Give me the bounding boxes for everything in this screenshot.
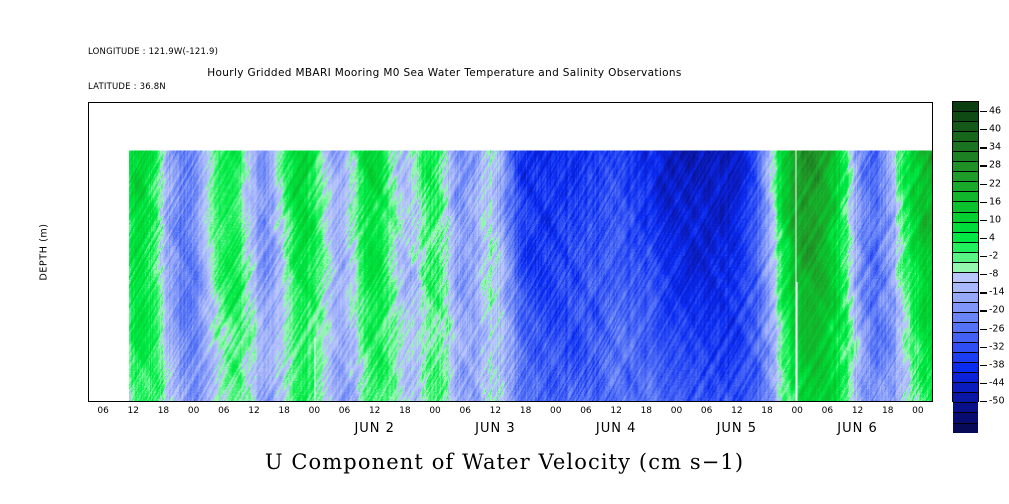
x-axis-tick-major [798,401,799,402]
x-axis-day-label: JUN 5 [717,421,757,436]
x-axis-tick-minor [119,102,120,103]
x-axis-tick-minor [180,401,181,402]
colorbar-band [953,111,978,121]
x-axis-tick-minor [542,401,543,402]
colorbar-band [953,222,978,232]
x-axis-tick-minor [386,102,387,103]
x-axis-tick-minor [823,401,824,402]
x-axis-tick-minor [532,102,533,103]
x-axis-tick-minor [823,102,824,103]
colorbar-band [953,232,978,242]
x-axis-tick-minor [270,102,271,103]
x-axis-tick-minor [537,401,538,402]
colorbar: 464034282216104-2-8-14-20-26-32-38-44-50 [952,101,979,402]
x-axis-tick-minor [924,401,925,402]
colorbar-band [953,121,978,131]
x-axis-hour-label: 18 [641,406,652,416]
x-axis-tick-major [406,401,407,402]
x-axis-tick-minor [361,102,362,103]
x-axis-tick-minor [506,401,507,402]
x-axis-tick-minor [512,102,513,103]
x-axis-tick-major [647,102,648,103]
x-axis-tick-minor [340,102,341,103]
colorbar-band [953,102,978,111]
colorbar-band [953,362,978,372]
x-axis-tick-minor [763,102,764,103]
x-axis-tick-minor [894,401,895,402]
x-axis-tick-minor [607,401,608,402]
x-axis-hour-label: 18 [278,406,289,416]
x-axis-tick-minor [577,102,578,103]
x-axis-tick-minor [582,102,583,103]
x-axis-tick-minor [813,102,814,103]
x-axis-tick-major [134,102,135,103]
x-axis-tick-minor [481,102,482,103]
x-axis-tick-major [255,401,256,402]
x-axis-tick-minor [582,401,583,402]
x-axis-tick-major [376,102,377,103]
x-axis-tick-minor [672,401,673,402]
x-axis-hour-label: 12 [490,406,501,416]
x-axis-tick-minor [325,401,326,402]
colorbar-band [953,423,978,433]
x-axis-tick-minor [612,102,613,103]
x-axis-tick-minor [486,401,487,402]
x-axis-tick-minor [149,401,150,402]
x-axis-tick-minor [220,102,221,103]
x-axis-hour-label: 12 [128,406,139,416]
x-axis-hour-label: 18 [520,406,531,416]
colorbar-tick-label: -14 [989,287,1005,298]
x-axis-hour-label: 12 [731,406,742,416]
x-axis-day-label: JUN 4 [596,421,636,436]
x-axis-tick-minor [698,401,699,402]
y-axis-tick-minor [88,253,89,254]
x-axis-tick-minor [688,102,689,103]
x-axis-tick-minor [909,401,910,402]
colorbar-band [953,141,978,151]
x-axis-tick-minor [190,401,191,402]
x-axis-tick-minor [205,401,206,402]
x-axis-tick-minor [149,102,150,103]
x-axis-tick-minor [713,401,714,402]
colorbar-tick-label: -44 [989,377,1005,388]
x-axis-tick-minor [637,102,638,103]
x-axis-tick-minor [154,401,155,402]
x-axis-hour-label: 12 [369,406,380,416]
x-axis-tick-minor [250,401,251,402]
y-axis-title: DEPTH (m) [39,223,50,280]
x-axis-tick-minor [245,102,246,103]
x-axis-tick-minor [517,102,518,103]
colorbar-band [953,161,978,171]
x-axis-tick-minor [567,401,568,402]
x-axis-tick-minor [335,401,336,402]
x-axis-tick-minor [175,102,176,103]
y-axis-tick-minor [88,373,89,374]
x-axis-tick-major [285,102,286,103]
x-axis-tick-minor [698,102,699,103]
x-axis-tick-minor [869,102,870,103]
x-axis-tick-minor [899,401,900,402]
x-axis-tick-minor [411,102,412,103]
x-axis-tick-minor [114,401,115,402]
x-axis-tick-major [225,102,226,103]
y-axis-tick-major [88,343,89,344]
x-axis-tick-minor [270,401,271,402]
colorbar-band [953,191,978,201]
colorbar-tick [980,383,987,384]
x-axis-tick-minor [547,401,548,402]
x-axis-tick-minor [753,102,754,103]
y-axis-tick-major [88,283,89,284]
x-axis-tick-minor [275,401,276,402]
x-axis-hour-label: 06 [339,406,350,416]
x-axis-tick-major [708,401,709,402]
x-axis-tick-minor [260,102,261,103]
x-axis-tick-major [738,102,739,103]
x-axis-tick-major [617,401,618,402]
x-axis-tick-minor [652,401,653,402]
colorbar-tick [980,329,987,330]
x-axis-tick-minor [778,102,779,103]
x-axis-tick-major [496,102,497,103]
x-axis-tick-minor [899,102,900,103]
x-axis-tick-minor [642,401,643,402]
x-axis-tick-minor [351,102,352,103]
x-axis-tick-major [104,401,105,402]
x-axis-tick-major [315,102,316,103]
x-axis-tick-minor [476,102,477,103]
x-axis-tick-minor [421,401,422,402]
x-axis-tick-major [828,401,829,402]
x-axis-tick-major [315,401,316,402]
plot-caption-text: U Component of Water Velocity (cm s−1) [265,450,744,474]
colorbar-tick-label: 46 [989,106,1001,117]
colorbar-band [953,242,978,252]
x-axis-tick-minor [99,401,100,402]
x-axis-tick-minor [431,102,432,103]
x-axis-tick-minor [159,102,160,103]
x-axis-tick-minor [688,401,689,402]
x-axis-tick-minor [295,102,296,103]
plot-caption: U Component of Water Velocity (cm s−1) [0,450,1009,474]
x-axis-tick-minor [914,401,915,402]
x-axis-tick-minor [215,102,216,103]
x-axis-tick-minor [572,401,573,402]
x-axis-tick-minor [144,401,145,402]
x-axis-tick-minor [627,102,628,103]
x-axis-tick-minor [522,102,523,103]
x-axis-tick-minor [391,102,392,103]
x-axis-tick-minor [552,102,553,103]
x-axis-tick-minor [476,401,477,402]
colorbar-tick [980,202,987,203]
x-axis-tick-minor [200,401,201,402]
x-axis-tick-minor [190,102,191,103]
x-axis-tick-minor [864,102,865,103]
x-axis-tick-minor [426,102,427,103]
x-axis-tick-minor [169,401,170,402]
x-axis-tick-major [919,401,920,402]
x-axis-hour-label: 00 [188,406,199,416]
colorbar-tick [980,165,987,166]
x-axis-tick-minor [129,401,130,402]
x-axis-tick-minor [864,401,865,402]
x-axis-tick-minor [843,102,844,103]
x-axis-tick-minor [335,102,336,103]
x-axis-tick-minor [99,102,100,103]
x-axis-tick-minor [340,401,341,402]
colorbar-tick-label: 28 [989,160,1001,171]
x-axis-tick-major [557,102,558,103]
x-axis-tick-minor [672,102,673,103]
x-axis-tick-minor [748,401,749,402]
x-axis-tick-major [587,401,588,402]
x-axis-tick-major [647,401,648,402]
x-axis-tick-minor [723,102,724,103]
x-axis-tick-minor [848,102,849,103]
x-axis-tick-minor [838,401,839,402]
x-axis-tick-minor [793,102,794,103]
x-axis-tick-minor [461,401,462,402]
x-axis-tick-minor [260,401,261,402]
x-axis-tick-minor [929,102,930,103]
x-axis-day-label: JUN 6 [837,421,877,436]
x-axis-tick-minor [884,102,885,103]
x-axis-tick-minor [693,401,694,402]
x-axis-hour-label: 06 [97,406,108,416]
x-axis-tick-minor [356,401,357,402]
x-axis-tick-major [164,102,165,103]
colorbar-tick [980,111,987,112]
x-axis-tick-major [798,102,799,103]
x-axis-tick-major [677,401,678,402]
x-axis-tick-minor [491,401,492,402]
x-axis-tick-major [466,401,467,402]
x-axis-tick-major [738,401,739,402]
x-axis-tick-minor [265,401,266,402]
colorbar-tick [980,274,987,275]
x-axis-tick-minor [265,102,266,103]
x-axis-tick-minor [305,401,306,402]
colorbar-tick [980,220,987,221]
x-axis-tick-minor [351,401,352,402]
x-axis-tick-minor [703,102,704,103]
x-axis-tick-minor [657,102,658,103]
x-axis-tick-minor [517,401,518,402]
x-axis-tick-minor [215,401,216,402]
x-axis-tick-minor [486,102,487,103]
x-axis-tick-minor [114,102,115,103]
latitude-line: LATITUDE : 36.8N [88,82,218,94]
x-axis-tick-minor [295,401,296,402]
x-axis-tick-minor [753,401,754,402]
x-axis-tick-minor [205,102,206,103]
x-axis-tick-minor [904,401,905,402]
x-axis-tick-minor [532,401,533,402]
colorbar-band [953,402,978,412]
colorbar-tick-label: -8 [989,269,998,280]
colorbar-band [953,302,978,312]
x-axis-tick-minor [592,401,593,402]
x-axis-tick-minor [512,401,513,402]
x-axis-tick-minor [567,102,568,103]
x-axis-tick-minor [723,401,724,402]
x-axis-tick-minor [366,102,367,103]
x-axis-tick-minor [788,401,789,402]
x-axis-tick-minor [622,102,623,103]
x-axis-tick-minor [139,401,140,402]
x-axis-tick-minor [280,102,281,103]
x-axis-tick-minor [109,102,110,103]
y-axis-tick-minor [88,313,89,314]
x-axis-tick-minor [280,401,281,402]
x-axis-tick-minor [879,102,880,103]
colorbar-tick-label: -50 [989,396,1005,407]
colorbar-band [953,322,978,332]
x-axis-tick-minor [89,401,90,402]
x-axis-day-label: JUN 2 [354,421,394,436]
x-axis-tick-minor [713,102,714,103]
x-axis-tick-minor [718,102,719,103]
x-axis-tick-minor [703,401,704,402]
x-axis-tick-minor [129,102,130,103]
x-axis-tick-minor [396,401,397,402]
x-axis-tick-major [436,102,437,103]
colorbar-tick [980,292,987,293]
x-axis-hour-label: 12 [248,406,259,416]
x-axis-tick-minor [310,102,311,103]
x-axis-tick-minor [391,401,392,402]
colorbar-tick-label: -2 [989,251,998,262]
x-axis-tick-minor [124,401,125,402]
x-axis-tick-major [889,401,890,402]
x-axis-tick-minor [109,401,110,402]
x-axis-tick-minor [154,102,155,103]
x-axis-tick-minor [366,401,367,402]
colorbar-band [953,382,978,392]
x-axis-tick-minor [733,401,734,402]
x-axis-tick-minor [401,102,402,103]
colorbar-tick [980,347,987,348]
x-axis-tick-minor [874,102,875,103]
x-axis-tick-minor [884,401,885,402]
colorbar-band [953,252,978,262]
x-axis-tick-major [195,401,196,402]
x-axis-tick-minor [421,102,422,103]
x-axis-hour-label: 06 [218,406,229,416]
x-axis-tick-minor [833,401,834,402]
x-axis-hour-label: 06 [822,406,833,416]
colorbar-band [953,292,978,302]
x-axis-tick-minor [803,401,804,402]
x-axis-tick-major [828,102,829,103]
x-axis-hour-label: 12 [852,406,863,416]
x-axis-tick-minor [773,401,774,402]
x-axis-tick-minor [240,102,241,103]
x-axis-tick-major [768,401,769,402]
x-axis-tick-minor [220,401,221,402]
colorbar-tick-label: 10 [989,214,1001,225]
x-axis-tick-minor [501,401,502,402]
x-axis-tick-minor [607,102,608,103]
x-axis-tick-major [255,102,256,103]
heatmap-canvas [89,103,932,401]
colorbar-tick-label: -32 [989,341,1005,352]
x-axis-tick-major [677,102,678,103]
x-axis-tick-minor [874,401,875,402]
x-axis-tick-minor [909,102,910,103]
colorbar-band [953,412,978,422]
x-axis-tick-minor [547,102,548,103]
x-axis-tick-minor [562,401,563,402]
x-axis-tick-minor [743,102,744,103]
colorbar-tick-label: -38 [989,359,1005,370]
x-axis-tick-minor [446,102,447,103]
colorbar-tick-label: 40 [989,124,1001,135]
x-axis-tick-minor [305,102,306,103]
x-axis-hour-label: 18 [158,406,169,416]
x-axis-tick-minor [683,401,684,402]
x-axis-tick-minor [275,102,276,103]
x-axis-tick-major [557,401,558,402]
x-axis-tick-minor [401,401,402,402]
y-axis-tick-minor [88,193,89,194]
colorbar-tick [980,401,987,402]
x-axis-tick-minor [833,102,834,103]
x-axis-tick-minor [456,401,457,402]
x-axis-tick-minor [250,102,251,103]
x-axis-tick-minor [210,102,211,103]
colorbar-band [953,272,978,282]
x-axis-tick-minor [431,401,432,402]
x-axis-tick-minor [144,102,145,103]
x-axis-tick-minor [808,401,809,402]
x-axis-hour-label: 00 [429,406,440,416]
x-axis-tick-major [406,102,407,103]
colorbar-band [953,372,978,382]
x-axis-tick-major [617,102,618,103]
colorbar-tick [980,184,987,185]
x-axis-tick-minor [139,102,140,103]
x-axis-tick-minor [577,401,578,402]
x-axis-tick-minor [416,401,417,402]
x-axis-tick-minor [813,401,814,402]
x-axis-tick-minor [185,102,186,103]
x-axis-tick-minor [461,102,462,103]
x-axis-tick-major [587,102,588,103]
colorbar-tick [980,256,987,257]
x-axis-tick-major [195,102,196,103]
colorbar-tick-label: 4 [989,232,995,243]
x-axis-tick-minor [808,102,809,103]
y-axis-tick-major [88,163,89,164]
x-axis-tick-minor [783,401,784,402]
x-axis-tick-minor [843,401,844,402]
x-axis-hour-label: 06 [459,406,470,416]
y-axis-tick-major [88,223,89,224]
x-axis-tick-minor [381,102,382,103]
x-axis-tick-minor [693,102,694,103]
x-axis-tick-minor [451,102,452,103]
x-axis-tick-minor [210,401,211,402]
x-axis-tick-minor [783,102,784,103]
y-axis-tick-minor [88,133,89,134]
x-axis-tick-minor [552,401,553,402]
x-axis-tick-minor [471,401,472,402]
x-axis-tick-minor [235,401,236,402]
